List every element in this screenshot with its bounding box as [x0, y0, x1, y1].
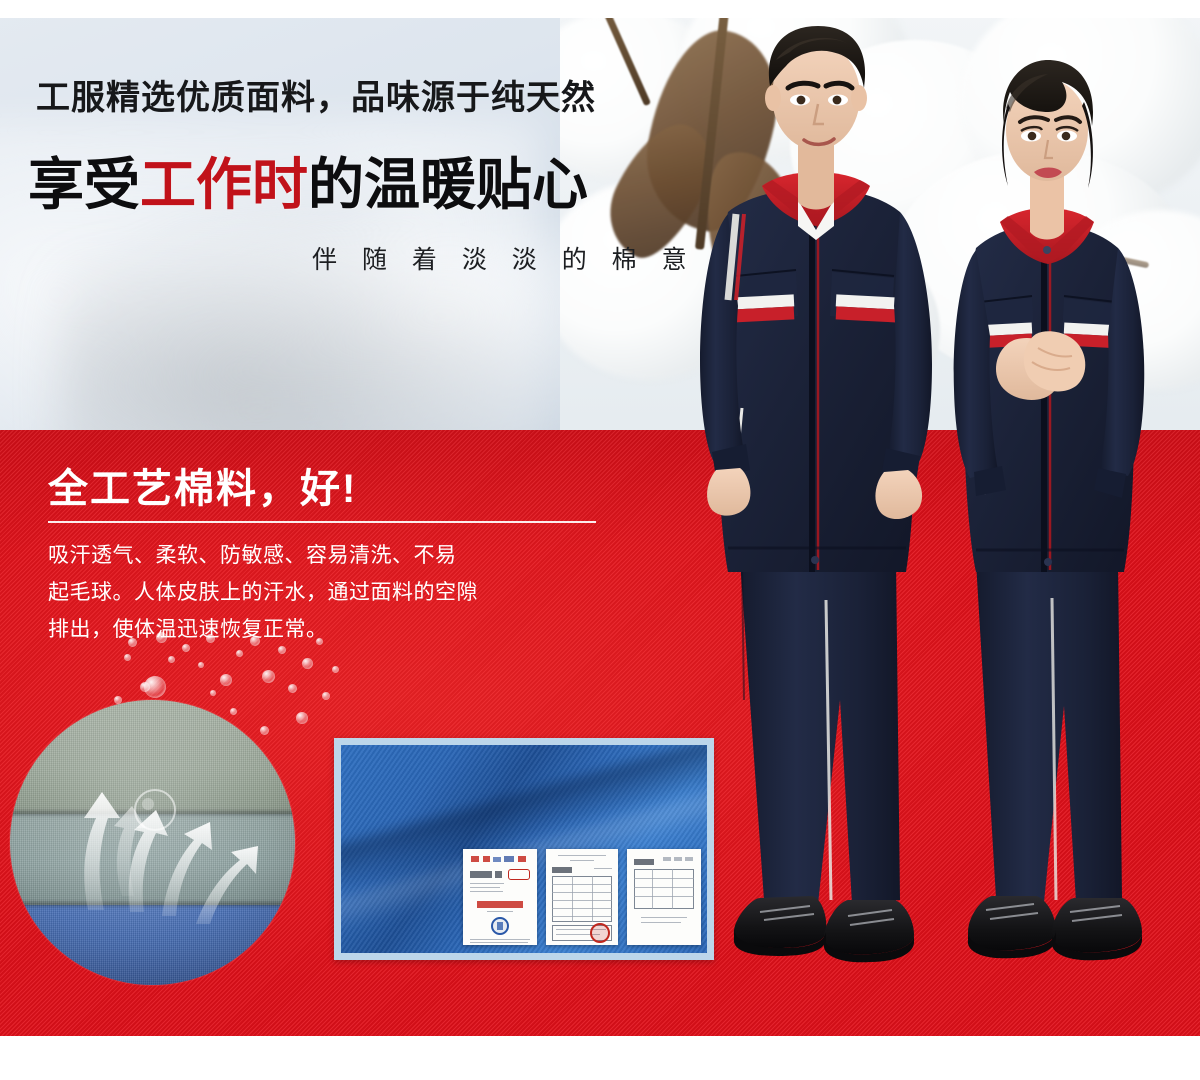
water-droplet [262, 670, 275, 683]
blue-fabric-backdrop [341, 745, 707, 953]
water-droplet [236, 650, 243, 657]
water-droplet [288, 684, 297, 693]
water-droplet [296, 712, 308, 724]
hero-headline-main-suffix: 的温暖贴心 [308, 153, 588, 216]
hero-subheadline: 伴 随 着 淡 淡 的 棉 意 [312, 240, 696, 276]
water-droplet [210, 690, 216, 696]
certificates-panel [334, 738, 714, 960]
water-droplet [198, 662, 204, 668]
promo-body-line-1: 吸汗透气、柔软、防敏感、容易清洗、不易 [48, 537, 608, 574]
bottom-white-strip [0, 1036, 1200, 1080]
document-specification-table [627, 849, 701, 945]
promo-heading: 全工艺棉料，好! [48, 456, 357, 514]
promo-body-line-3: 排出，使体温迅速恢复正常。 [48, 611, 608, 648]
water-droplet [220, 674, 232, 686]
hero-section: 工服精选优质面料，品味源于纯天然 享受工作时的温暖贴心 伴 随 着 淡 淡 的 … [0, 0, 1200, 430]
water-droplet [124, 654, 131, 661]
hero-headline-top: 工服精选优质面料，品味源于纯天然 [36, 70, 596, 119]
promo-body-line-2: 起毛球。人体皮肤上的汗水，通过面料的空隙 [48, 574, 608, 611]
hero-headline-main-accent: 工作时 [140, 153, 308, 216]
promo-body: 吸汗透气、柔软、防敏感、容易清洗、不易 起毛球。人体皮肤上的汗水，通过面料的空隙… [48, 537, 608, 648]
document-test-data-table [546, 849, 618, 945]
product-banner-page: 工服精选优质面料，品味源于纯天然 享受工作时的温暖贴心 伴 随 着 淡 淡 的 … [0, 0, 1200, 1080]
fabric-layers-circle [10, 700, 295, 985]
document-inspection-report [463, 849, 537, 945]
promo-divider [48, 521, 596, 523]
hero-headline-main-prefix: 享受 [28, 153, 140, 216]
hero-headline-block: 工服精选优质面料，品味源于纯天然 享受工作时的温暖贴心 伴 随 着 淡 淡 的 … [0, 0, 700, 430]
top-white-strip [0, 0, 1200, 18]
water-droplet [332, 666, 339, 673]
water-droplet [302, 658, 313, 669]
water-droplet [322, 692, 330, 700]
water-droplet [168, 656, 175, 663]
fabric-circle-vignette [10, 700, 295, 985]
water-droplet [140, 682, 150, 692]
hero-headline-main: 享受工作时的温暖贴心 [28, 140, 588, 221]
